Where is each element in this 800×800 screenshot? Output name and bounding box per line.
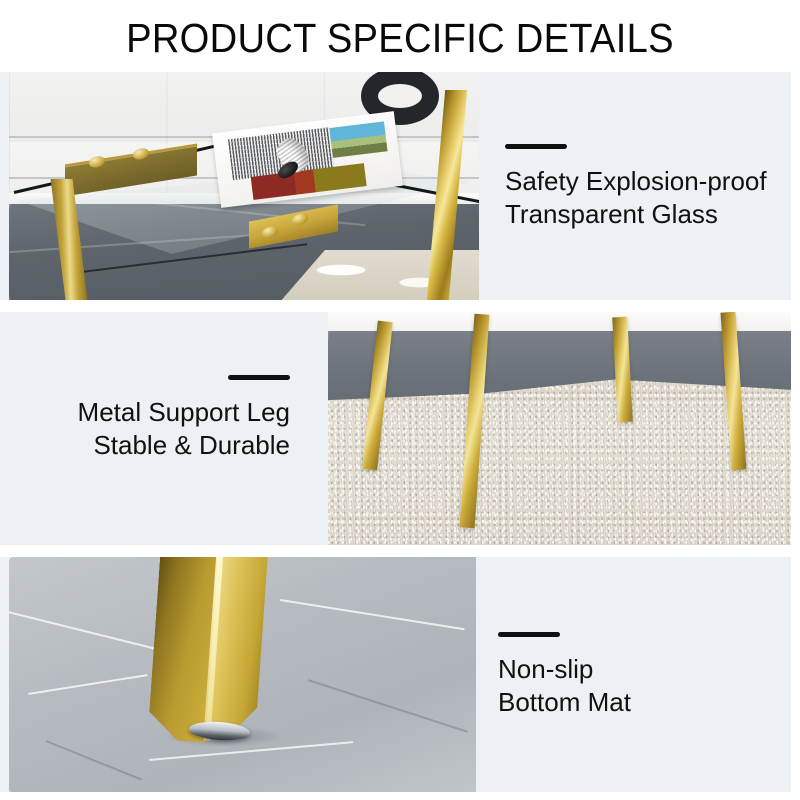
detail-panel-metal-support-leg: Metal Support Leg Stable & Durable bbox=[0, 312, 791, 545]
marble-vein bbox=[280, 599, 465, 630]
caption-area-metal-support-leg: Metal Support Leg Stable & Durable bbox=[0, 312, 328, 545]
product-photo-non-slip-mat bbox=[9, 557, 476, 792]
caption-area-non-slip-mat: Non-slip Bottom Mat bbox=[476, 557, 791, 792]
product-photo-safety-glass bbox=[9, 72, 479, 300]
caption-line-1: Non-slip bbox=[498, 653, 631, 686]
marble-vein bbox=[308, 679, 468, 733]
accent-rule bbox=[498, 632, 560, 637]
caption-block: Non-slip Bottom Mat bbox=[498, 632, 631, 719]
bracket-knob bbox=[134, 147, 150, 161]
marble-vein bbox=[46, 740, 142, 780]
caption-block: Safety Explosion-proof Transparent Glass bbox=[505, 144, 767, 231]
product-photo-metal-support-leg bbox=[328, 312, 791, 545]
caption-block: Metal Support Leg Stable & Durable bbox=[78, 375, 290, 462]
page-title: PRODUCT SPECIFIC DETAILS bbox=[28, 14, 772, 62]
marble-vein bbox=[9, 609, 154, 649]
bracket-knob bbox=[261, 226, 277, 240]
marble-vein bbox=[28, 674, 148, 695]
caption-line-2: Stable & Durable bbox=[78, 429, 290, 462]
caption-line-1: Metal Support Leg bbox=[78, 396, 290, 429]
caption-line-2: Bottom Mat bbox=[498, 686, 631, 719]
accent-rule bbox=[505, 144, 567, 149]
shag-rug-texture bbox=[328, 373, 791, 545]
detail-panel-non-slip-mat: Non-slip Bottom Mat bbox=[0, 557, 791, 792]
bracket-knob bbox=[89, 155, 105, 169]
caption-area-safety-glass: Safety Explosion-proof Transparent Glass bbox=[479, 72, 791, 300]
detail-panel-safety-glass: Safety Explosion-proof Transparent Glass bbox=[0, 72, 791, 300]
caption-line-1: Safety Explosion-proof bbox=[505, 165, 767, 198]
bracket-knob bbox=[292, 213, 308, 227]
accent-rule bbox=[228, 375, 290, 380]
product-detail-page: PRODUCT SPECIFIC DETAILS bbox=[0, 0, 800, 800]
caption-line-2: Transparent Glass bbox=[505, 198, 767, 231]
